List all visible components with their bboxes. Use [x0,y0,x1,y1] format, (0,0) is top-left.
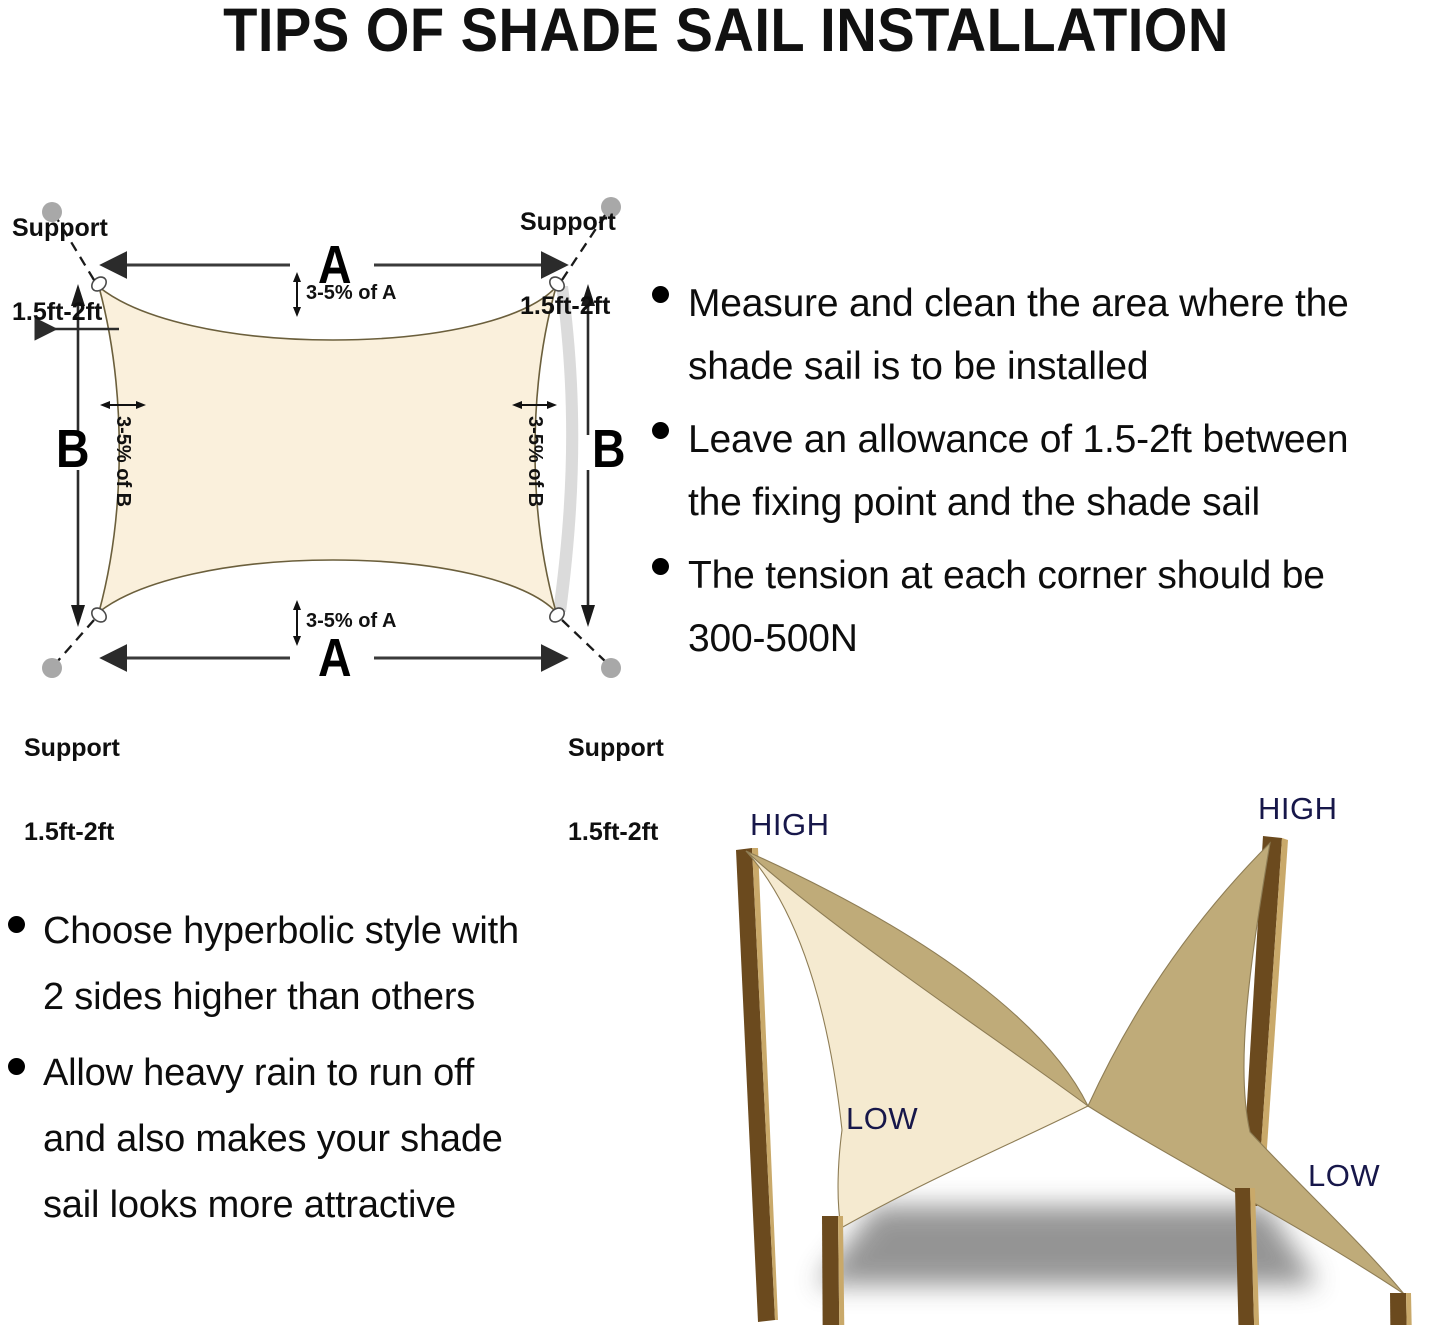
support-label-bottom-right: Support 1.5ft-2ft [568,678,664,902]
tip-line: the fixing point and the shade sail [688,471,1348,534]
support-label-bottom-left: Support 1.5ft-2ft [24,678,120,902]
tip-line: Allow heavy rain to run off [43,1040,503,1106]
bullet-icon [8,1058,25,1075]
tip-text: The tension at each corner should be 300… [688,544,1325,670]
dimension-letter-bottom-a: A [318,631,352,685]
support-dot-bottom-left [42,658,62,678]
dimension-letter-left-b: B [56,422,90,476]
bullet-icon [652,422,669,439]
curvature-note-right-b: 3-5% of B [524,416,546,507]
rigging-line-bottom-right [562,620,607,663]
tip-text: Allow heavy rain to run off and also mak… [43,1040,503,1238]
support-dot-bottom-right [601,658,621,678]
hyperbolic-style-tips-list: Choose hyperbolic style with 2 sides hig… [8,898,628,1248]
tip-line: and also makes your shade [43,1106,503,1172]
hyperbolic-sail-diagram: HIGH HIGH LOW LOW [690,788,1452,1325]
tip-line: 2 sides higher than others [43,964,519,1030]
tip-line: Choose hyperbolic style with [43,898,519,964]
rigging-line-bottom-left [56,620,94,663]
curvature-tick-top-a [293,272,301,317]
list-item: Choose hyperbolic style with 2 sides hig… [8,898,628,1030]
tip-line: Leave an allowance of 1.5-2ft between [688,408,1348,471]
curvature-note-top-a: 3-5% of A [306,282,396,304]
support-label-line2: 1.5ft-2ft [12,298,108,326]
list-item: Allow heavy rain to run off and also mak… [8,1040,628,1238]
list-item: Leave an allowance of 1.5-2ft between th… [652,408,1452,534]
post-front-right-low [1390,1293,1413,1325]
label-low-front-left: LOW [846,1101,918,1137]
curvature-tick-bottom-a [293,600,301,646]
tip-text: Leave an allowance of 1.5-2ft between th… [688,408,1348,534]
sail-body [99,287,556,612]
curvature-note-bottom-a: 3-5% of A [306,610,396,632]
poster-root: TIPS OF SHADE SAIL INSTALLATION [0,0,1452,1325]
rectangular-sail-diagram: Support 1.5ft-2ft Support 1.5ft-2ft Supp… [0,160,660,740]
tip-line: The tension at each corner should be [688,544,1325,607]
label-low-front-right: LOW [1308,1158,1380,1194]
support-label-line2: 1.5ft-2ft [568,818,664,846]
installation-tips-list: Measure and clean the area where the sha… [652,272,1452,680]
support-label-line1: Support [520,208,616,236]
bullet-icon [652,286,669,303]
tip-text: Choose hyperbolic style with 2 sides hig… [43,898,519,1030]
support-label-top-left: Support 1.5ft-2ft [12,158,108,382]
support-label-line2: 1.5ft-2ft [24,818,120,846]
support-label-line1: Support [24,734,120,762]
tip-line: Measure and clean the area where the [688,272,1349,335]
tip-text: Measure and clean the area where the sha… [688,272,1349,398]
support-label-line1: Support [12,214,108,242]
bullet-icon [8,916,25,933]
list-item: Measure and clean the area where the sha… [652,272,1452,398]
support-label-line1: Support [568,734,664,762]
curvature-note-left-b: 3-5% of B [112,416,134,507]
hyperbolic-sail-svg [690,788,1452,1325]
tip-line: shade sail is to be installed [688,335,1349,398]
tip-line: sail looks more attractive [43,1172,503,1238]
post-front-left-low [822,1216,845,1325]
list-item: The tension at each corner should be 300… [652,544,1452,670]
support-label-line2: 1.5ft-2ft [520,292,616,320]
dimension-letter-right-b: B [592,422,626,476]
post-back-left-high [736,848,778,1322]
label-high-back-right: HIGH [1258,791,1338,827]
tip-line: 300-500N [688,607,1325,670]
bullet-icon [652,558,669,575]
page-title: TIPS OF SHADE SAIL INSTALLATION [58,0,1394,62]
label-high-back-left: HIGH [750,807,830,843]
support-label-top-right: Support 1.5ft-2ft [520,152,616,376]
